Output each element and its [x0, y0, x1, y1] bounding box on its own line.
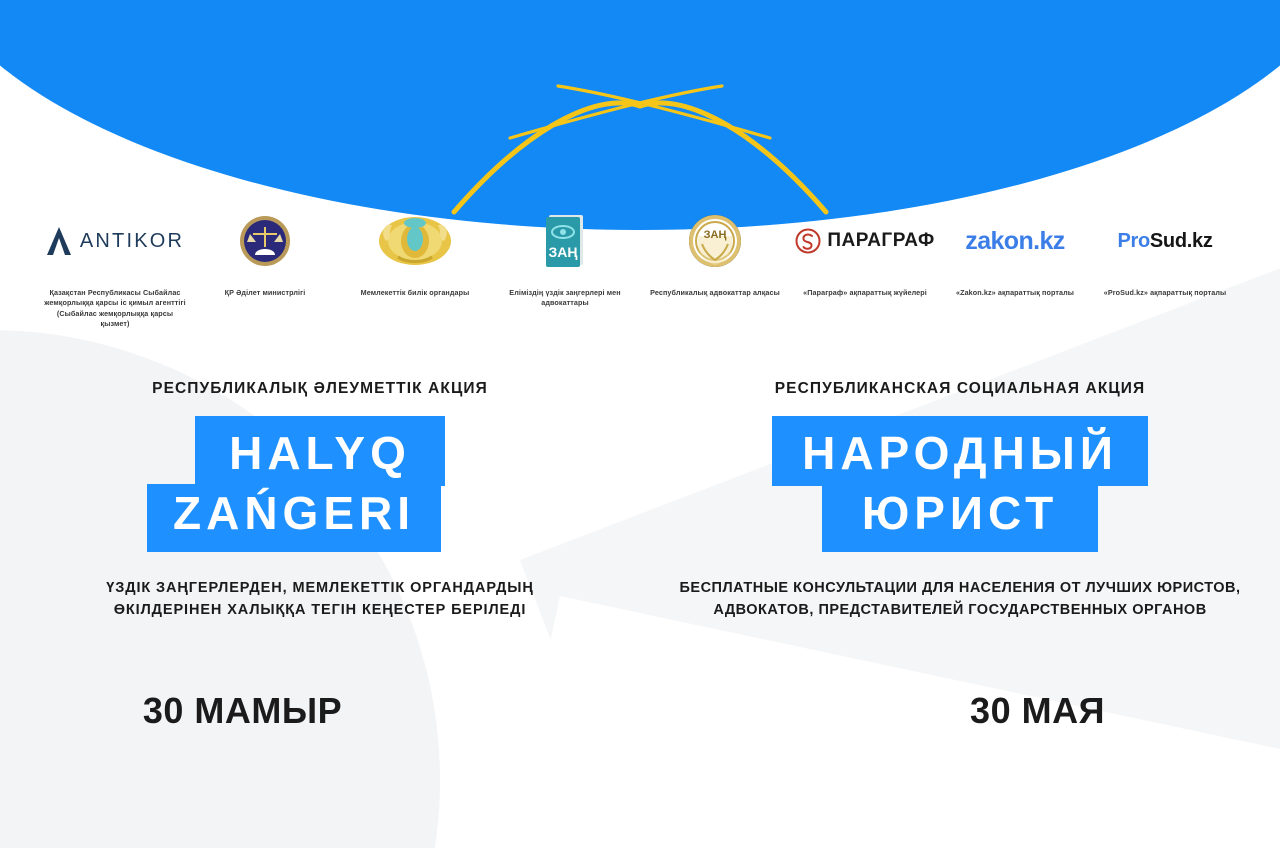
- antikor-a-mark: [46, 226, 72, 256]
- paragraf-s-mark: [795, 228, 821, 254]
- poster-canvas: ANTIKOR Қазақстан Республикасы Сыбайлас …: [0, 0, 1280, 848]
- law-book-icon: ЗАҢ: [542, 212, 588, 270]
- campaign-subtext-line2-kz: ӨКІЛДЕРІНЕН ХАЛЫҚҚА ТЕГІН КЕҢЕСТЕР БЕРІЛ…: [106, 600, 533, 622]
- bar-association-seal-icon: ЗАҢ: [688, 214, 742, 268]
- partner-state-authorities: Мемлекеттік билік органдары: [342, 212, 488, 298]
- partner-best-lawyers: ЗАҢ Еліміздің үздік заңгерлері мен адвок…: [492, 212, 638, 309]
- partner-zakon-kz: zakon.kz «Zakon.kz» ақпараттық порталы: [942, 212, 1088, 298]
- zakon-kz-logo: zakon.kz: [965, 212, 1064, 270]
- partner-caption: Еліміздің үздік заңгерлері мен адвокатта…: [492, 288, 638, 309]
- partner-logo-strip: ANTIKOR Қазақстан Республикасы Сыбайлас …: [0, 212, 1280, 332]
- prosud-kz-logo: ProSud.kz: [1117, 212, 1212, 270]
- campaign-subtext-line1-ru: БЕСПЛАТНЫЕ КОНСУЛЬТАЦИИ ДЛЯ НАСЕЛЕНИЯ ОТ…: [679, 578, 1240, 600]
- partner-caption: «ProSud.kz» ақпараттық порталы: [1102, 288, 1228, 298]
- antikor-logo: ANTIKOR: [46, 212, 184, 270]
- campaign-kazakh: РЕСПУБЛИКАЛЫҚ ӘЛЕУМЕТТІК АКЦИЯ HALYQ ZAŃ…: [0, 380, 640, 622]
- zan-book-wordmark: ЗАҢ: [549, 244, 578, 260]
- partner-paragraf: ПАРАГРАФ «Параграф» ақпараттық жүйелері: [792, 212, 938, 298]
- campaign-title-kz: HALYQ ZAŃGERI: [195, 416, 445, 552]
- partner-antikor: ANTIKOR Қазақстан Республикасы Сыбайлас …: [42, 212, 188, 330]
- date-cell-ru: 30 МАЯ: [525, 690, 1280, 732]
- campaign-subtext-line2-ru: АДВОКАТОВ, ПРЕДСТАВИТЕЛЕЙ ГОСУДАРСТВЕННЫ…: [679, 600, 1240, 622]
- campaign-columns: РЕСПУБЛИКАЛЫҚ ӘЛЕУМЕТТІК АКЦИЯ HALYQ ZAŃ…: [0, 380, 1280, 622]
- partner-caption: «Параграф» ақпараттық жүйелері: [801, 288, 929, 298]
- campaign-kicker-ru: РЕСПУБЛИКАНСКАЯ СОЦИАЛЬНАЯ АКЦИЯ: [775, 380, 1146, 398]
- justice-seal-icon: [239, 215, 291, 267]
- state-authorities-emblem: [378, 212, 452, 270]
- campaign-title-line2-kz: ZAŃGERI: [147, 484, 441, 552]
- shanyrak-emblem-icon: [378, 215, 452, 267]
- campaign-title-line2-ru: ЮРИСТ: [822, 484, 1098, 552]
- partner-caption: Республикалық адвокаттар алқасы: [648, 288, 782, 298]
- campaign-date-kz: 30 МАМЫР: [143, 690, 342, 732]
- campaign-kicker-kz: РЕСПУБЛИКАЛЫҚ ӘЛЕУМЕТТІК АКЦИЯ: [152, 380, 488, 398]
- partner-bar-association: ЗАҢ Республикалық адвокаттар алқасы: [642, 212, 788, 298]
- campaign-title-line1-ru: НАРОДНЫЙ: [772, 416, 1148, 486]
- crossed-arcs-emblem: [440, 62, 840, 222]
- partner-caption: «Zakon.kz» ақпараттық порталы: [954, 288, 1076, 298]
- paragraf-wordmark: ПАРАГРАФ: [827, 230, 934, 252]
- zan-book-logo: ЗАҢ: [542, 212, 588, 270]
- partner-prosud-kz: ProSud.kz «ProSud.kz» ақпараттық порталы: [1092, 212, 1238, 298]
- antikor-wordmark: ANTIKOR: [80, 230, 184, 253]
- campaign-subtext-kz: ҮЗДІК ЗАҢГЕРЛЕРДЕН, МЕМЛЕКЕТТІК ОРГАНДАР…: [106, 578, 533, 622]
- partner-caption: Мемлекеттік билік органдары: [359, 288, 472, 298]
- campaign-title-line1-kz: HALYQ: [195, 416, 445, 486]
- campaign-russian: РЕСПУБЛИКАНСКАЯ СОЦИАЛЬНАЯ АКЦИЯ НАРОДНЫ…: [640, 380, 1280, 622]
- campaign-dates: 30 МАМЫР 30 МАЯ: [0, 690, 1280, 732]
- campaign-date-ru: 30 МАЯ: [970, 690, 1105, 732]
- paragraf-logo: ПАРАГРАФ: [795, 212, 934, 270]
- republican-bar-association-emblem: ЗАҢ: [688, 212, 742, 270]
- campaign-subtext-ru: БЕСПЛАТНЫЕ КОНСУЛЬТАЦИИ ДЛЯ НАСЕЛЕНИЯ ОТ…: [679, 578, 1240, 622]
- zakon-kz-wordmark: zakon.kz: [965, 227, 1064, 256]
- partner-ministry-of-justice: ҚР Әділет министрлігі: [192, 212, 338, 298]
- bar-seal-wordmark: ЗАҢ: [704, 229, 727, 241]
- partner-caption: ҚР Әділет министрлігі: [223, 288, 308, 298]
- campaign-title-ru: НАРОДНЫЙ ЮРИСТ: [772, 416, 1148, 552]
- prosud-wordmark-pro: Pro: [1117, 230, 1149, 252]
- partner-caption: Қазақстан Республикасы Сыбайлас жемқорлы…: [42, 288, 188, 330]
- ministry-of-justice-emblem: [239, 212, 291, 270]
- prosud-wordmark-sud: Sud.kz: [1150, 230, 1213, 252]
- date-cell-kz: 30 МАМЫР: [0, 690, 525, 732]
- campaign-subtext-line1-kz: ҮЗДІК ЗАҢГЕРЛЕРДЕН, МЕМЛЕКЕТТІК ОРГАНДАР…: [106, 578, 533, 600]
